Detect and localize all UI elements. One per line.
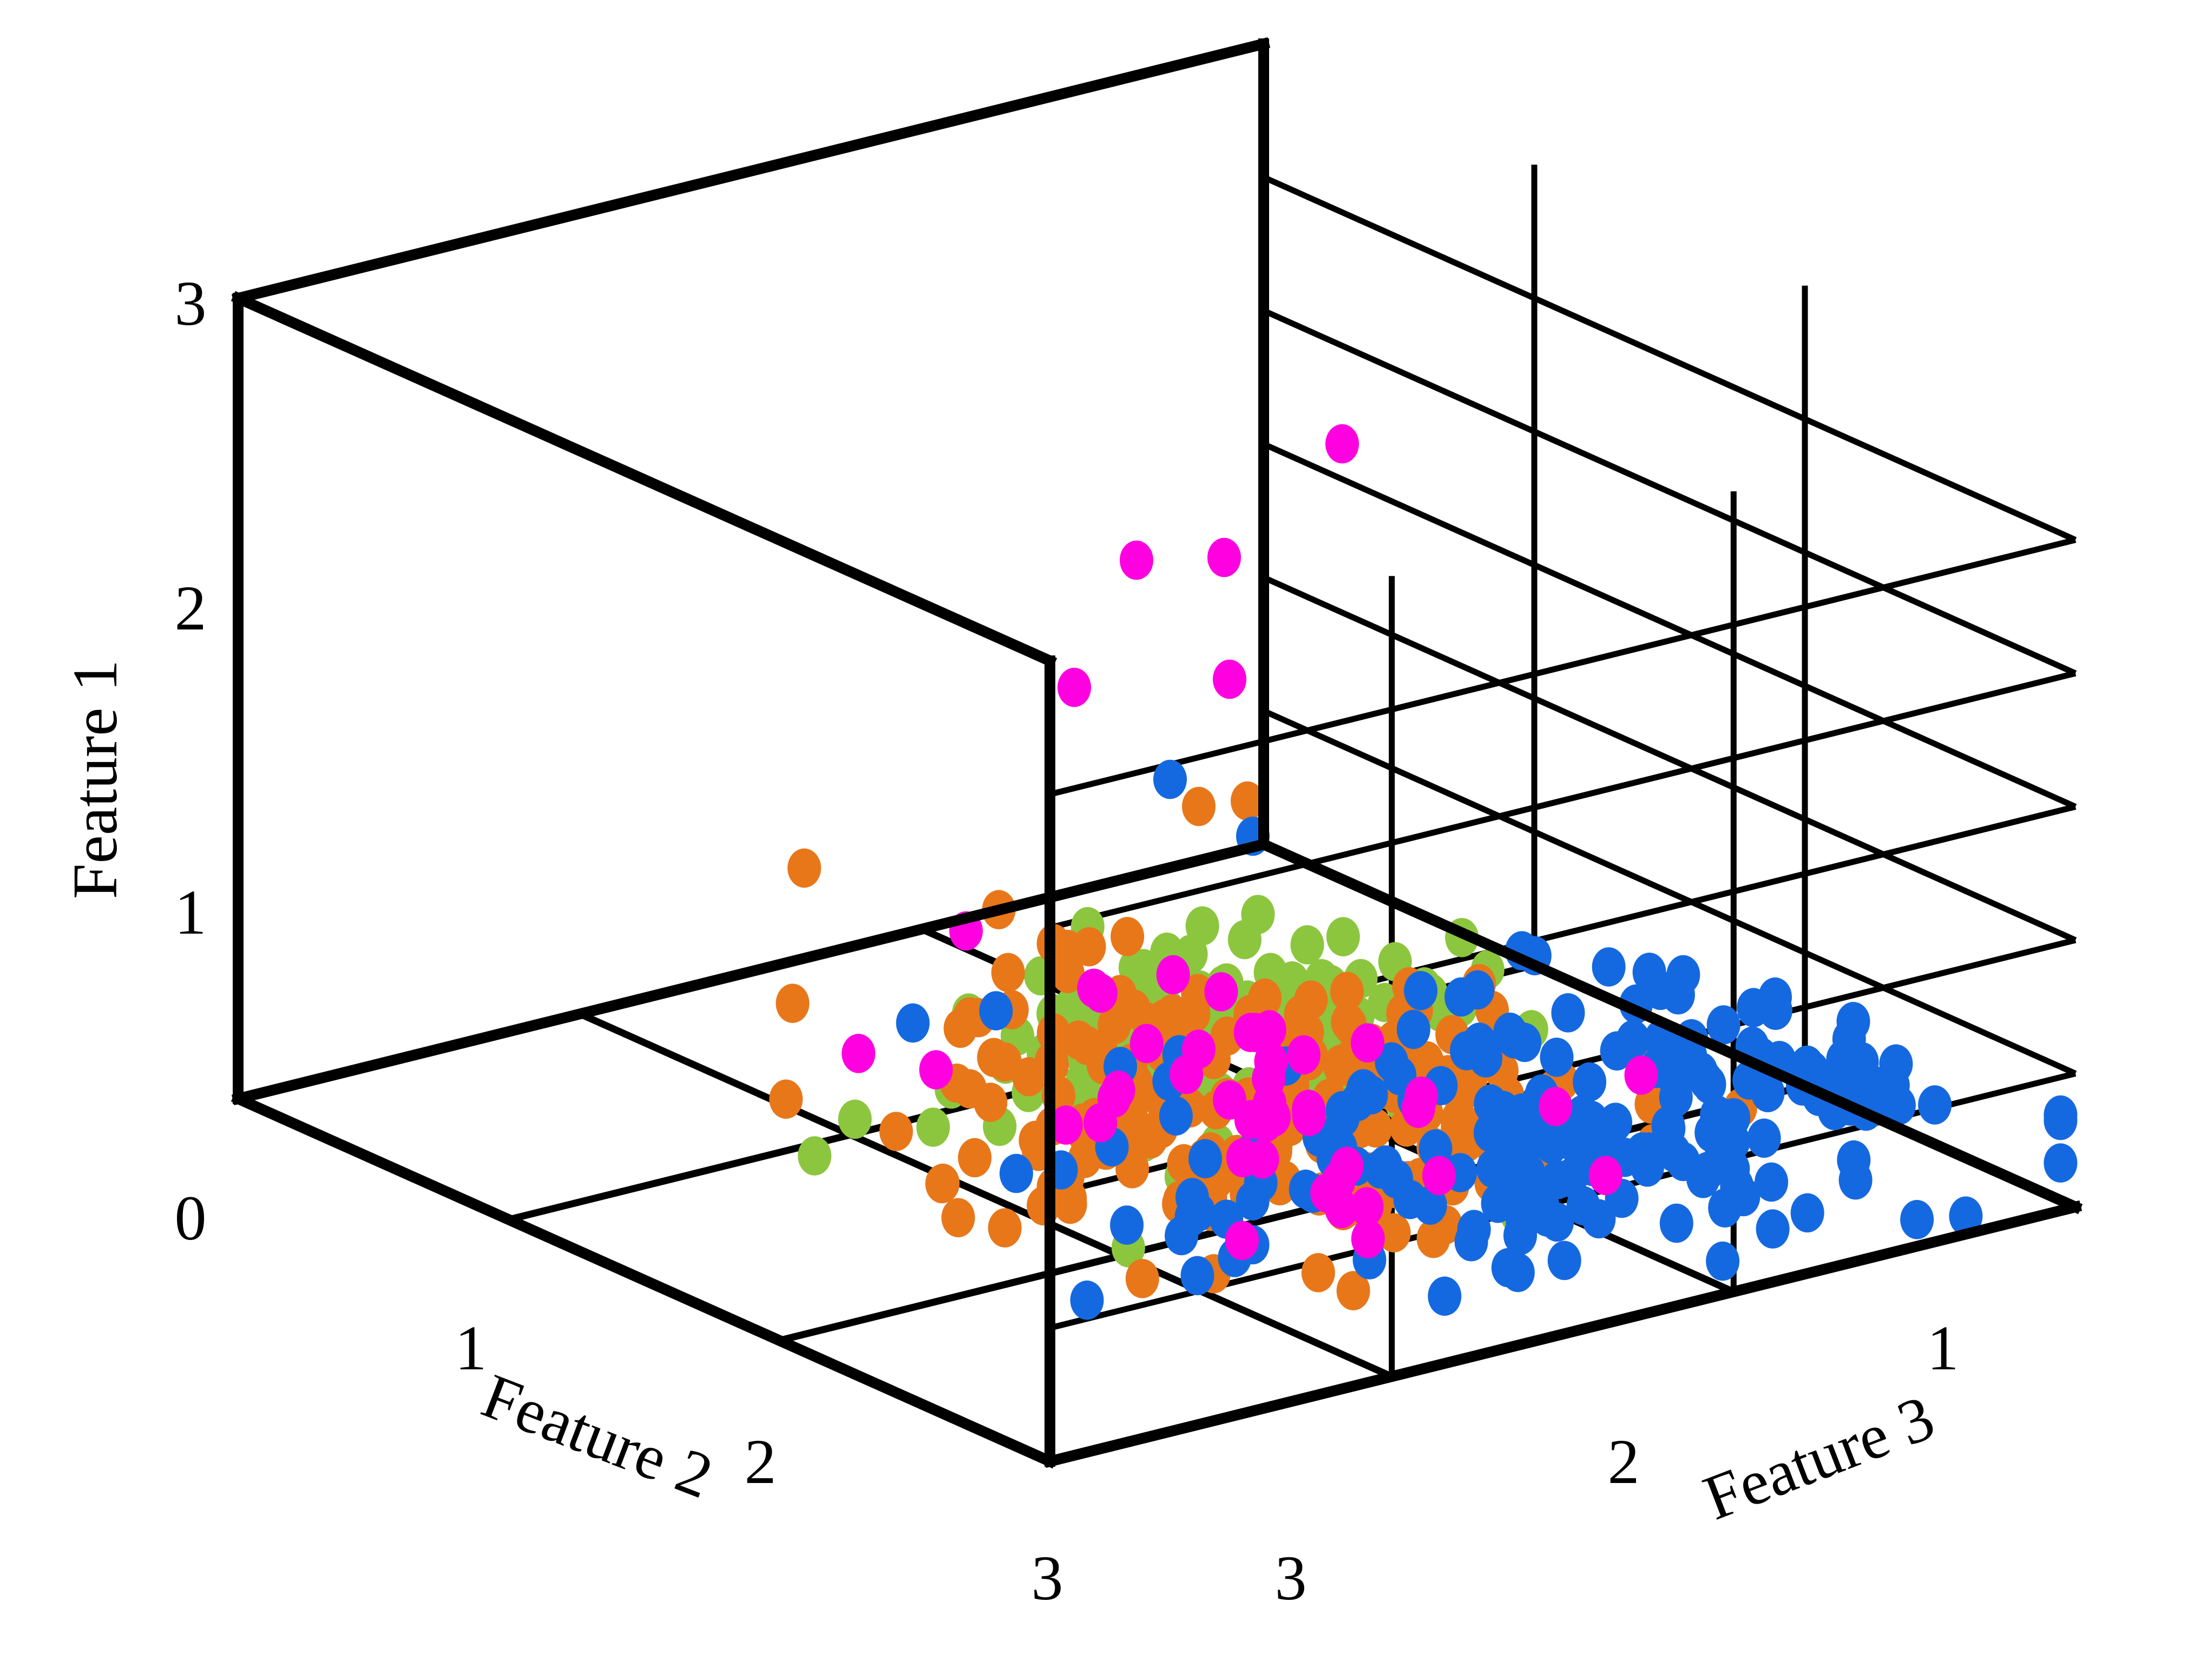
data-point <box>842 1034 875 1073</box>
data-point <box>1070 1026 1104 1065</box>
data-point <box>988 1208 1022 1248</box>
data-point <box>1617 1020 1650 1059</box>
data-point <box>1070 1281 1104 1320</box>
axis-title-feature1: Feature 1 <box>60 660 130 899</box>
data-point <box>1159 1097 1193 1136</box>
tick-f3-1: 1 <box>1927 1312 1959 1383</box>
data-point <box>1837 1002 1870 1041</box>
data-point <box>1573 1062 1606 1102</box>
tick-f2-2: 2 <box>745 1426 777 1497</box>
data-point <box>1117 989 1151 1029</box>
data-point <box>1326 917 1360 956</box>
data-point <box>1369 1145 1402 1185</box>
data-point <box>1246 1139 1279 1179</box>
data-point-outlier <box>1182 787 1216 826</box>
data-point <box>1631 1147 1664 1187</box>
data-point <box>1791 1193 1824 1233</box>
data-point <box>1428 1277 1461 1316</box>
data-point <box>1213 1080 1246 1120</box>
data-point <box>1073 927 1106 967</box>
data-point <box>1181 1256 1214 1296</box>
data-point <box>1241 895 1275 934</box>
data-point <box>1548 1241 1581 1281</box>
data-point <box>1567 1186 1600 1225</box>
data-point <box>1659 1078 1693 1117</box>
data-point <box>1292 1090 1325 1129</box>
data-point <box>1879 1045 1913 1084</box>
data-point <box>1708 1188 1742 1228</box>
data-point <box>769 1080 803 1119</box>
data-point <box>1130 1024 1164 1064</box>
data-point <box>916 1107 950 1147</box>
data-point <box>1508 1023 1541 1062</box>
data-point-outlier <box>1153 760 1187 799</box>
data-point <box>1084 974 1118 1013</box>
data-point <box>919 1050 953 1090</box>
data-point <box>1404 971 1437 1010</box>
data-point <box>1350 1187 1384 1226</box>
data-point <box>1589 1156 1622 1196</box>
data-point-outlier <box>1325 424 1359 464</box>
data-point <box>1157 955 1190 995</box>
data-point <box>1351 1023 1384 1063</box>
data-point <box>798 1136 831 1176</box>
data-point <box>1758 977 1792 1017</box>
figure-root: 3 2 1 0 1 2 3 1 2 3 Feature 1 Feature 2 … <box>0 0 2194 1680</box>
axis-title-feature3: Feature 3 <box>1694 1382 1943 1534</box>
data-point <box>1000 1154 1033 1193</box>
data-point <box>1748 1119 1781 1158</box>
data-point <box>838 1100 872 1139</box>
data-point <box>2044 1143 2077 1183</box>
data-point <box>879 1112 913 1151</box>
tick-f1-2: 2 <box>175 573 207 644</box>
data-point <box>1575 1101 1608 1140</box>
data-point <box>1540 1038 1574 1077</box>
axis-title-feature2: Feature 2 <box>473 1360 722 1512</box>
tick-f3-3: 3 <box>1275 1543 1307 1613</box>
data-point <box>1551 993 1585 1033</box>
tick-f2-1: 1 <box>455 1312 487 1383</box>
axis-labels-layer: 3 2 1 0 1 2 3 1 2 3 Feature 1 Feature 2 … <box>60 268 1959 1613</box>
data-point <box>1111 917 1144 956</box>
tick-f1-3: 3 <box>175 268 207 339</box>
data-point <box>1644 971 1677 1010</box>
data-point <box>1110 1205 1144 1245</box>
data-point <box>958 1138 991 1178</box>
data-point <box>1291 925 1324 964</box>
data-point <box>1422 1156 1456 1196</box>
data-point <box>942 1198 975 1238</box>
data-point <box>925 1164 959 1204</box>
data-point <box>1461 970 1494 1010</box>
data-point <box>1918 1085 1952 1125</box>
data-point <box>1837 1140 1870 1180</box>
data-point <box>896 1003 930 1043</box>
data-point <box>1126 1259 1159 1298</box>
data-point <box>1660 1204 1693 1243</box>
data-point <box>1346 1069 1380 1108</box>
data-point <box>1188 1139 1222 1179</box>
data-point <box>1394 1180 1427 1219</box>
data-point <box>1450 1031 1483 1071</box>
data-point <box>1287 1035 1321 1075</box>
data-point <box>1706 1242 1739 1281</box>
data-point <box>1625 1055 1658 1095</box>
data-point <box>1302 1253 1335 1292</box>
scatter3d-canvas: 3 2 1 0 1 2 3 1 2 3 Feature 1 Feature 2 … <box>0 0 2194 1680</box>
data-point <box>1455 1222 1488 1262</box>
data-point-outlier <box>1207 538 1241 577</box>
data-point-outlier <box>1120 541 1153 580</box>
data-point-outlier <box>1057 668 1091 707</box>
data-point <box>979 991 1013 1031</box>
data-point <box>1503 1216 1537 1255</box>
data-point <box>974 1082 1007 1122</box>
data-point <box>776 984 810 1023</box>
data-point <box>1700 1095 1733 1135</box>
data-point <box>1402 1089 1435 1128</box>
data-point <box>1098 1079 1131 1118</box>
data-point <box>1592 947 1626 987</box>
tick-f1-0: 0 <box>175 1183 207 1254</box>
data-point <box>1204 972 1238 1012</box>
data-point <box>787 849 821 888</box>
data-point <box>1539 1087 1572 1126</box>
data-point <box>1513 1122 1546 1161</box>
data-point <box>1486 1091 1520 1130</box>
data-point <box>2044 1095 2077 1135</box>
data-point <box>1234 1013 1267 1052</box>
data-point <box>991 953 1025 993</box>
tick-f3-2: 2 <box>1608 1426 1640 1497</box>
data-point <box>1756 1209 1790 1249</box>
data-point <box>1253 1084 1286 1123</box>
data-point <box>1397 1010 1430 1049</box>
data-point <box>1322 1161 1356 1200</box>
data-point <box>1900 1200 1934 1239</box>
data-point <box>1225 1221 1259 1261</box>
tick-f1-1: 1 <box>175 877 207 948</box>
data-point-outlier <box>1213 660 1246 699</box>
data-point <box>977 1038 1010 1078</box>
data-point <box>1170 1055 1203 1094</box>
data-point <box>1175 1178 1209 1217</box>
tick-f2-3: 3 <box>1032 1543 1063 1613</box>
